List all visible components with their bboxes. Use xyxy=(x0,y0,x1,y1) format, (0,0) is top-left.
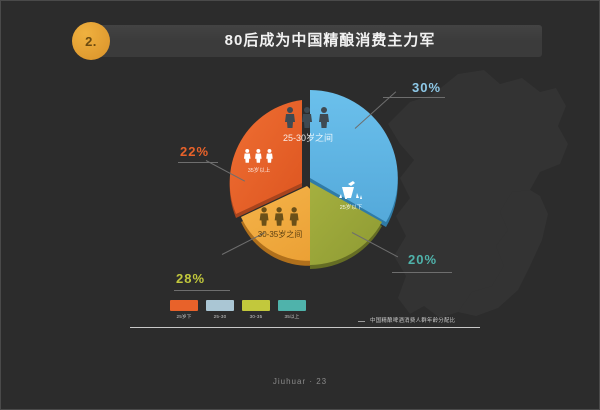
callout-underline-28 xyxy=(174,290,230,291)
callout-value-22: 22% xyxy=(180,144,209,159)
chart-caption: 中国精酿啤酒消费人群年龄分配比 xyxy=(370,316,455,324)
section-number-badge: 2. xyxy=(72,22,110,60)
legend-item-under-25[interactable]: 25岁下 xyxy=(170,300,198,320)
callout-value-20: 20% xyxy=(408,252,437,267)
chart-legend: 25岁下 25-30 30-35 35以上 xyxy=(170,300,306,320)
caption-dash xyxy=(358,321,365,322)
section-number-label: 2. xyxy=(85,34,97,49)
slide-title: 80后成为中国精酿消费主力军 xyxy=(130,25,530,57)
legend-label: 25-30 xyxy=(206,314,234,319)
legend-label: 25岁下 xyxy=(170,314,198,320)
legend-swatch xyxy=(170,300,198,311)
legend-divider-rule xyxy=(130,327,480,328)
slide-footer: Jiuhuar · 23 xyxy=(0,377,600,386)
callout-underline-30 xyxy=(383,97,445,98)
legend-swatch xyxy=(206,300,234,311)
legend-swatch xyxy=(278,300,306,311)
legend-label: 35以上 xyxy=(278,314,306,320)
legend-label: 30-35 xyxy=(242,314,270,319)
callout-value-30: 30% xyxy=(412,80,441,95)
legend-swatch xyxy=(242,300,270,311)
callout-underline-20 xyxy=(392,272,452,273)
legend-item-25-30[interactable]: 25-30 xyxy=(206,300,234,320)
legend-item-30-35[interactable]: 30-35 xyxy=(242,300,270,320)
callout-value-28: 28% xyxy=(176,271,205,286)
slide-canvas: 2. 80后成为中国精酿消费主力军 xyxy=(0,0,600,410)
legend-item-35-plus[interactable]: 35以上 xyxy=(278,300,306,320)
callout-underline-22 xyxy=(178,162,218,163)
